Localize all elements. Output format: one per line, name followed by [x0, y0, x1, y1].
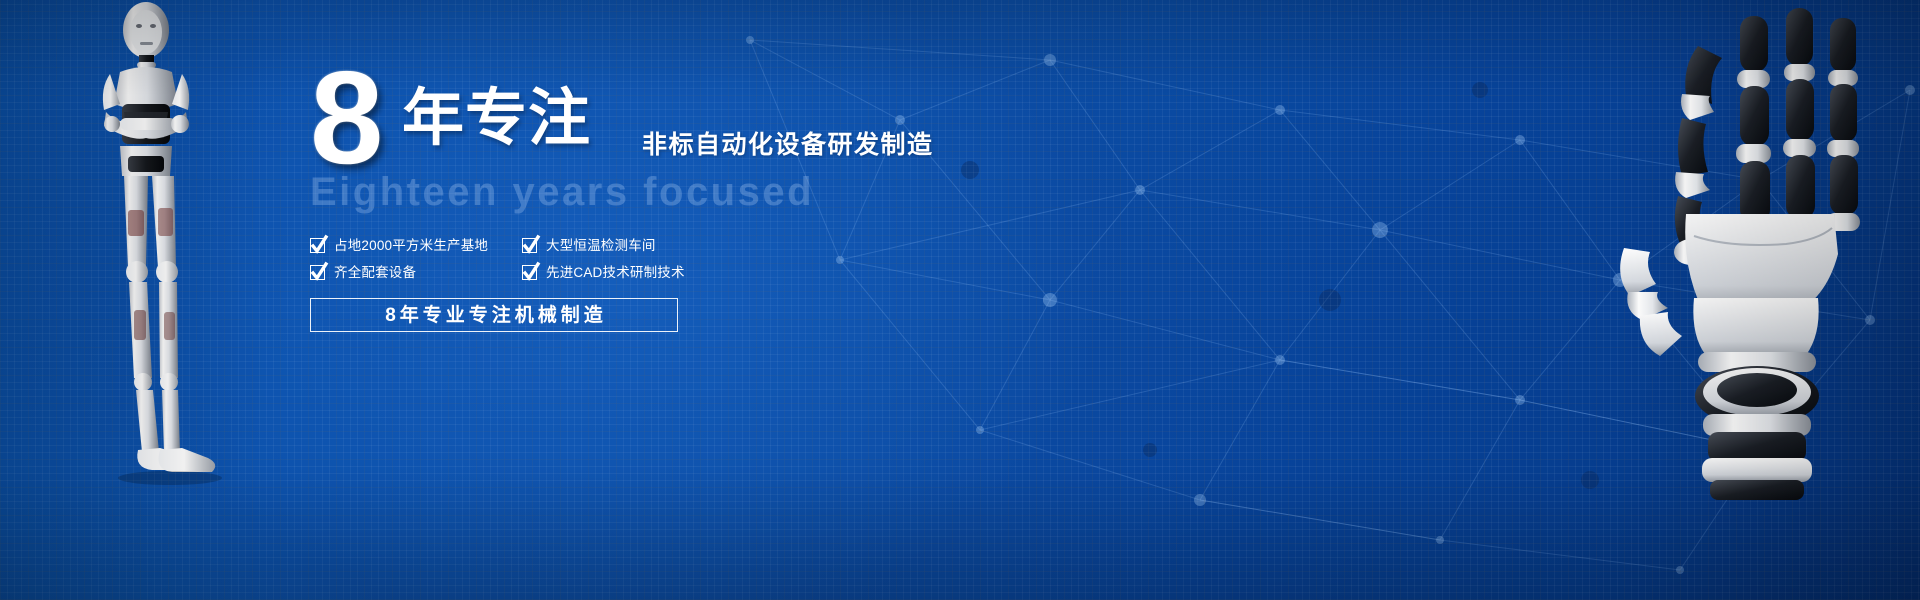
slogan-box: 8年专业专注机械制造	[310, 298, 678, 332]
feature-item: 大型恒温检测车间	[522, 238, 730, 253]
ghost-tagline: Eighteen years focused	[310, 172, 1070, 212]
headline-chinese: 年专注	[402, 88, 591, 150]
hero-banner: 8 年专注 非标自动化设备研发制造 Eighteen years focused…	[0, 0, 1920, 600]
slogan-text: 8年专业专注机械制造	[381, 306, 607, 325]
feature-item: 先进CAD技术研制技术	[522, 265, 730, 280]
banner-content: 8 年专注 非标自动化设备研发制造 Eighteen years focused…	[310, 70, 1070, 332]
checkbox-checked-icon	[522, 265, 537, 280]
feature-label: 大型恒温检测车间	[546, 239, 656, 253]
checkbox-checked-icon	[310, 265, 325, 280]
checkbox-checked-icon	[310, 238, 325, 253]
feature-label: 齐全配套设备	[334, 266, 416, 280]
feature-list: 占地2000平方米生产基地 大型恒温检测车间 齐全配套设备 先进CAD技术研制技…	[310, 238, 730, 280]
checkbox-checked-icon	[522, 238, 537, 253]
headline-group: 8 年专注 非标自动化设备研发制造	[310, 70, 1070, 162]
robotic-hand-icon	[1590, 0, 1920, 500]
humanoid-robot-icon	[60, 0, 290, 490]
feature-item: 占地2000平方米生产基地	[310, 238, 522, 253]
feature-label: 先进CAD技术研制技术	[546, 266, 685, 280]
headline-number: 8	[310, 52, 381, 184]
feature-label: 占地2000平方米生产基地	[334, 239, 488, 253]
feature-item: 齐全配套设备	[310, 265, 522, 280]
headline-subtitle: 非标自动化设备研发制造	[642, 133, 934, 158]
